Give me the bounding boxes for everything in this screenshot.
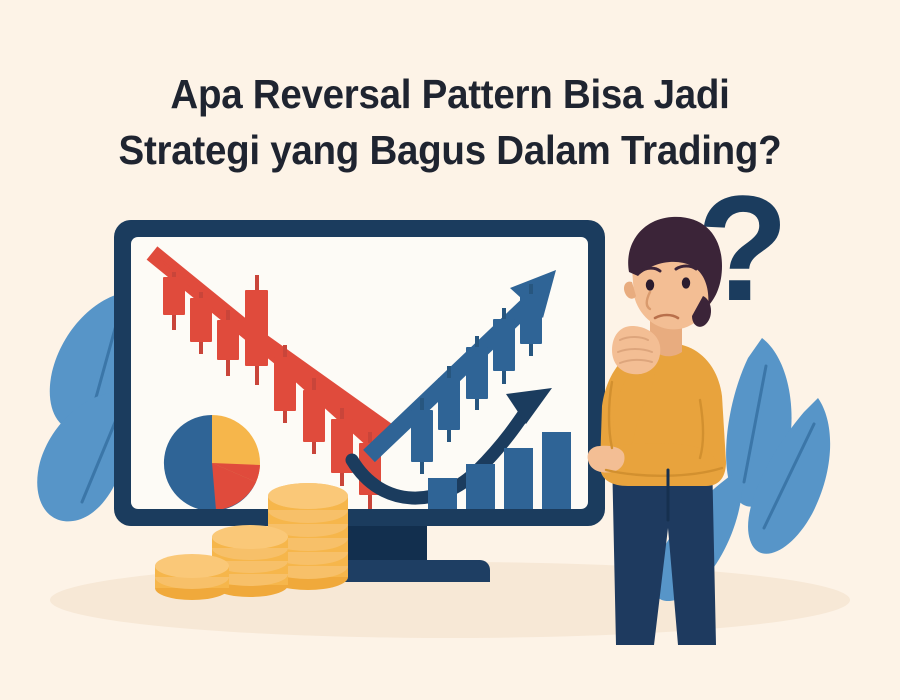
poster-canvas: ? [0, 0, 900, 700]
bar [542, 432, 571, 511]
candle [466, 336, 488, 410]
bar [466, 464, 495, 511]
coin-top [268, 483, 348, 509]
portfolio-pie-chart [164, 415, 260, 511]
eye-right [682, 277, 690, 288]
eye-left [646, 279, 654, 290]
coin-top [155, 554, 229, 578]
hand-lower [588, 446, 625, 473]
coin-top [212, 525, 288, 549]
bar [504, 448, 533, 511]
bar [428, 478, 457, 511]
illustration-artboard: ? [0, 0, 900, 700]
small-stack [155, 554, 229, 600]
